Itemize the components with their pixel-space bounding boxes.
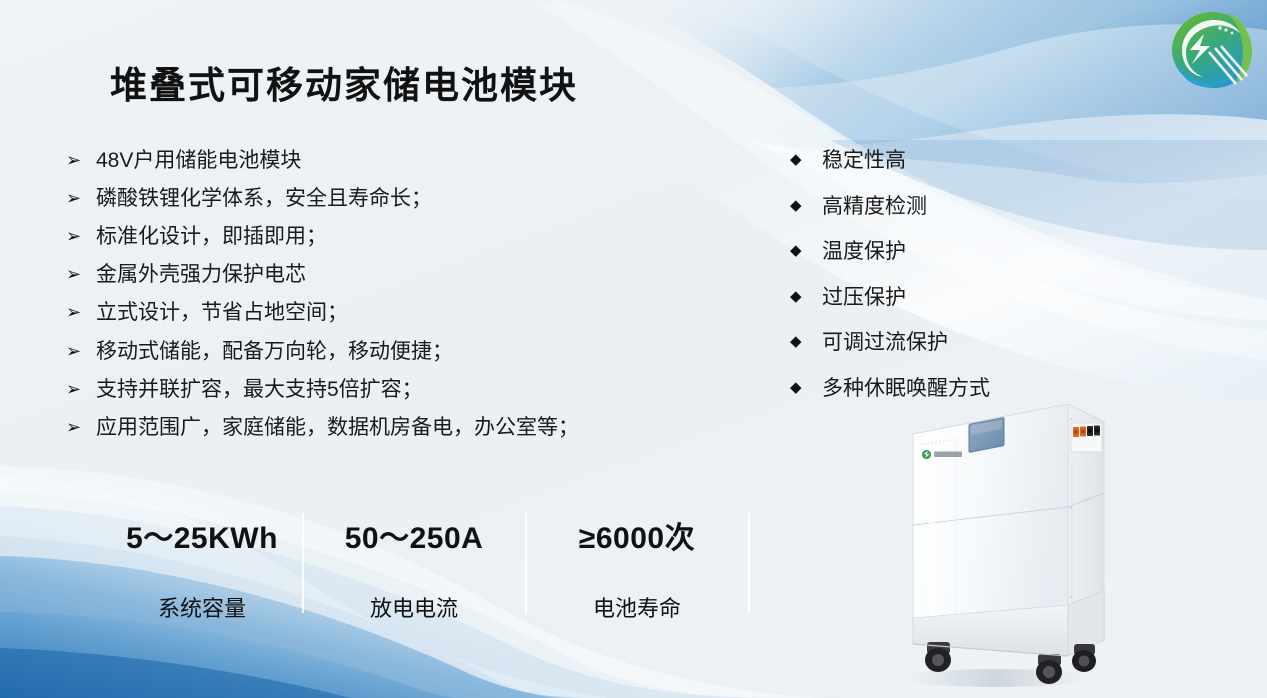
page-title: 堆叠式可移动家储电池模块 <box>110 55 578 109</box>
feature-text: 过压保护 <box>822 285 1120 311</box>
spec-divider <box>525 513 527 613</box>
list-item: ➢ 应用范围广，家庭储能，数据机房备电，办公室等； <box>66 415 766 441</box>
product-photo <box>868 392 1118 692</box>
spec-divider <box>748 513 750 613</box>
list-item: ◆ 过压保护 <box>790 285 1120 311</box>
spec-label: 电池寿命 <box>537 591 737 623</box>
list-item: ◆ 高精度检测 <box>790 194 1120 220</box>
diamond-bullet-icon: ◆ <box>790 330 822 353</box>
diamond-bullet-icon: ◆ <box>790 376 822 399</box>
spec-value: ≥6000次 <box>537 513 737 557</box>
spec-strip: 5～25KWh 系统容量 50～250A 放电电流 ≥6000次 电池寿命 <box>80 505 780 620</box>
feature-text: 稳定性高 <box>822 148 1120 174</box>
list-item: ➢ 移动式储能，配备万向轮，移动便捷； <box>66 339 766 365</box>
diamond-bullet-icon: ◆ <box>790 239 822 262</box>
spec-label: 放电电流 <box>314 591 514 623</box>
arrow-bullet-icon: ➢ <box>66 339 96 363</box>
feature-text: 温度保护 <box>822 239 1120 265</box>
feature-text: 应用范围广，家庭储能，数据机房备电，办公室等； <box>96 415 766 441</box>
list-item: ◆ 可调过流保护 <box>790 330 1120 356</box>
spec-value: 5～25KWh <box>102 513 302 557</box>
spec-item-capacity: 5～25KWh 系统容量 <box>102 513 302 623</box>
diamond-bullet-icon: ◆ <box>790 285 822 308</box>
spec-item-cycle-life: ≥6000次 电池寿命 <box>537 513 737 623</box>
list-item: ➢ 标准化设计，即插即用； <box>66 224 766 250</box>
spec-divider <box>302 513 304 613</box>
list-item: ➢ 立式设计，节省占地空间； <box>66 300 766 326</box>
spec-value: 50～250A <box>314 513 514 557</box>
feature-text: 高精度检测 <box>822 194 1120 220</box>
arrow-bullet-icon: ➢ <box>66 224 96 248</box>
feature-text: 可调过流保护 <box>822 330 1120 356</box>
feature-text: 48V户用储能电池模块 <box>96 148 766 174</box>
slide-canvas: 堆叠式可移动家储电池模块 ➢ 48V户用储能电池模块 ➢ 磷酸铁锂化学体系，安全… <box>0 0 1267 698</box>
feature-text: 磷酸铁锂化学体系，安全且寿命长； <box>96 186 766 212</box>
arrow-bullet-icon: ➢ <box>66 300 96 324</box>
feature-list-left: ➢ 48V户用储能电池模块 ➢ 磷酸铁锂化学体系，安全且寿命长； ➢ 标准化设计… <box>66 148 766 453</box>
arrow-bullet-icon: ➢ <box>66 148 96 172</box>
company-logo-icon <box>1160 6 1260 92</box>
spec-item-current: 50～250A 放电电流 <box>314 513 514 623</box>
feature-text: 标准化设计，即插即用； <box>96 224 766 250</box>
diamond-bullet-icon: ◆ <box>790 194 822 217</box>
list-item: ◆ 温度保护 <box>790 239 1120 265</box>
arrow-bullet-icon: ➢ <box>66 262 96 286</box>
list-item: ➢ 48V户用储能电池模块 <box>66 148 766 174</box>
arrow-bullet-icon: ➢ <box>66 377 96 401</box>
feature-text: 立式设计，节省占地空间； <box>96 300 766 326</box>
spec-label: 系统容量 <box>102 591 302 623</box>
feature-text: 支持并联扩容，最大支持5倍扩容； <box>96 377 766 403</box>
feature-text: 移动式储能，配备万向轮，移动便捷； <box>96 339 766 365</box>
list-item: ➢ 磷酸铁锂化学体系，安全且寿命长； <box>66 186 766 212</box>
feature-list-right: ◆ 稳定性高 ◆ 高精度检测 ◆ 温度保护 ◆ 过压保护 ◆ 可调过流保护 ◆ … <box>790 148 1120 422</box>
arrow-bullet-icon: ➢ <box>66 415 96 439</box>
arrow-bullet-icon: ➢ <box>66 186 96 210</box>
list-item: ➢ 支持并联扩容，最大支持5倍扩容； <box>66 377 766 403</box>
feature-text: 金属外壳强力保护电芯 <box>96 262 766 288</box>
list-item: ◆ 稳定性高 <box>790 148 1120 174</box>
list-item: ➢ 金属外壳强力保护电芯 <box>66 262 766 288</box>
diamond-bullet-icon: ◆ <box>790 148 822 171</box>
